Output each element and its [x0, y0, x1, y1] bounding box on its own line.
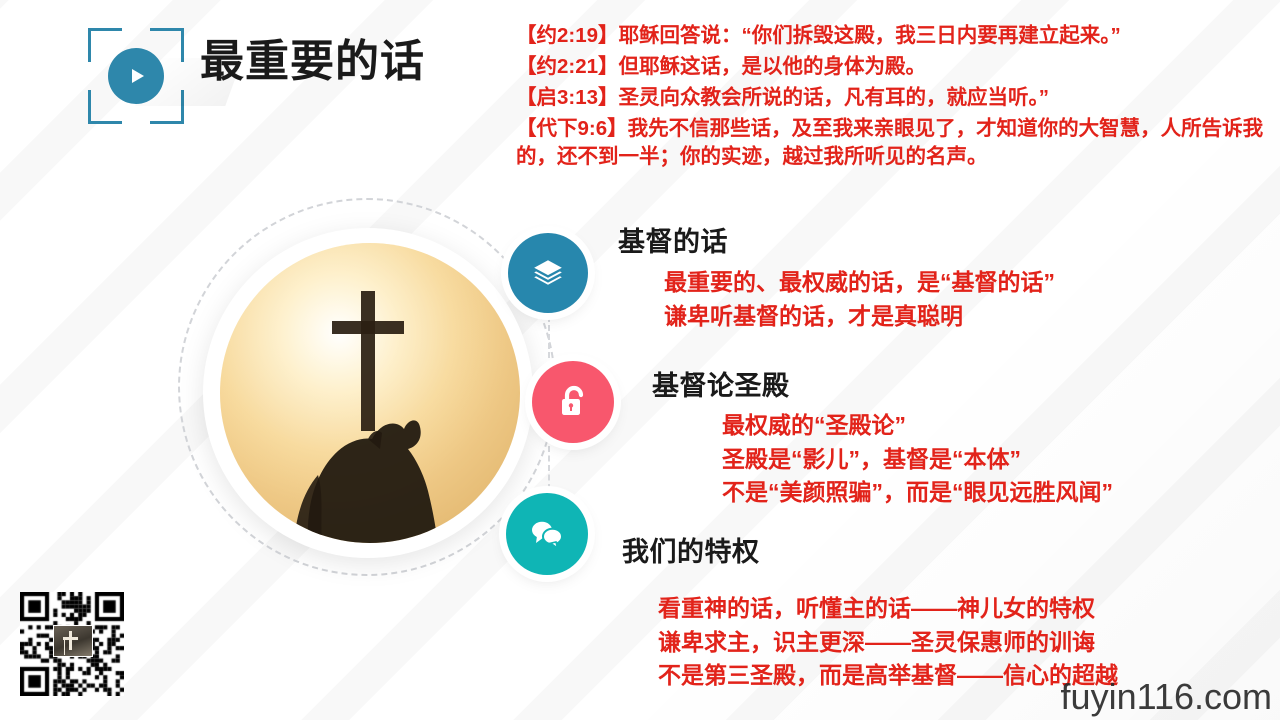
play-button-icon[interactable]	[108, 48, 164, 104]
qr-code[interactable]	[20, 592, 124, 696]
scripture-line: 【代下9:6】我先不信那些话，及至我来亲眼见了，才知道你的大智慧，人所告诉我的，…	[516, 115, 1266, 171]
site-watermark: fuyin116.com	[1061, 676, 1272, 718]
unlock-padlock-icon[interactable]	[532, 361, 614, 443]
section-heading-1: 基督的话	[618, 220, 728, 259]
section-body-3: 看重神的话，听懂主的话——神儿女的特权 谦卑求主，识主更深——圣灵保惠师的训诲 …	[658, 592, 1118, 693]
speech-bubbles-icon[interactable]	[506, 493, 588, 575]
section-line: 最权威的“圣殿论”	[722, 409, 1113, 443]
section-line: 不是“美颜照骗”，而是“眼见远胜风闻”	[722, 476, 1113, 510]
section-line: 谦卑听基督的话，才是真聪明	[664, 300, 1055, 334]
section-body-2: 最权威的“圣殿论” 圣殿是“影儿”，基督是“本体” 不是“美颜照骗”，而是“眼见…	[722, 409, 1113, 510]
section-line: 最重要的、最权威的话，是“基督的话”	[664, 266, 1055, 300]
scripture-block: 【约2:19】耶稣回答说：“你们拆毁这殿，我三日内要再建立起来。” 【约2:21…	[516, 22, 1266, 174]
section-line: 圣殿是“影儿”，基督是“本体”	[722, 443, 1113, 477]
cross-silhouette-photo	[220, 243, 520, 543]
scripture-line: 【启3:13】圣灵向众教会所说的话，凡有耳的，就应当听。”	[516, 84, 1266, 112]
section-body-1: 最重要的、最权威的话，是“基督的话” 谦卑听基督的话，才是真聪明	[664, 266, 1055, 333]
brand-logo	[88, 28, 184, 124]
qr-code-center-image	[53, 625, 93, 657]
icon-connector-line	[548, 316, 550, 358]
page-title: 最重要的话	[200, 40, 425, 84]
section-heading-3: 我们的特权	[622, 530, 760, 569]
layers-icon[interactable]	[508, 233, 588, 313]
section-line: 不是第三圣殿，而是高举基督——信心的超越	[658, 659, 1118, 693]
section-line: 谦卑求主，识主更深——圣灵保惠师的训诲	[658, 626, 1118, 660]
scripture-line: 【约2:19】耶稣回答说：“你们拆毁这殿，我三日内要再建立起来。”	[516, 22, 1266, 50]
slide-canvas: 最重要的话 【约2:19】耶稣回答说：“你们拆毁这殿，我三日内要再建立起来。” …	[0, 0, 1280, 720]
icon-connector-line	[548, 446, 550, 490]
section-heading-2: 基督论圣殿	[652, 364, 790, 403]
scripture-line: 【约2:21】但耶稣这话，是以他的身体为殿。	[516, 53, 1266, 81]
section-line: 看重神的话，听懂主的话——神儿女的特权	[658, 592, 1118, 626]
